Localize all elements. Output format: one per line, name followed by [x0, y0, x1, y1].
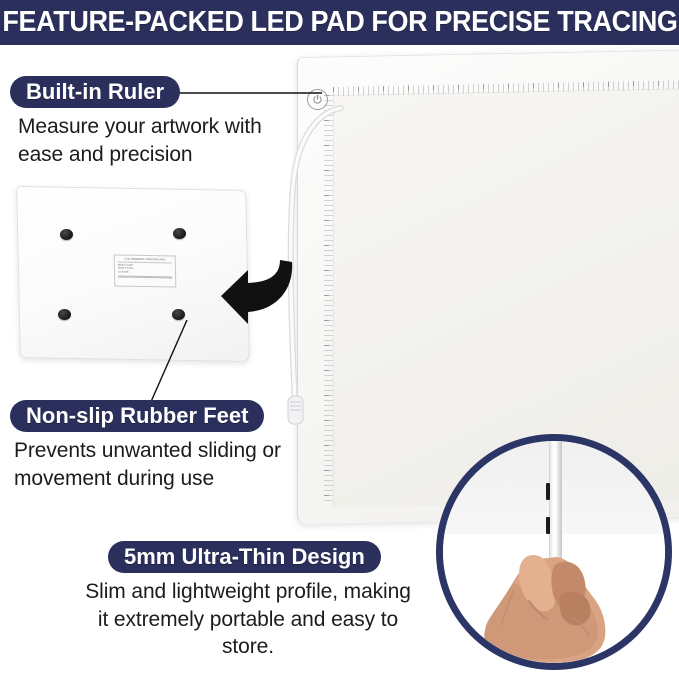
curved-left-arrow-icon: [218, 256, 296, 326]
infographic-canvas: FEATURE-PACKED LED PAD FOR PRECISE TRACI…: [0, 0, 679, 674]
rubber-foot: [172, 309, 185, 320]
callout-text-built-in-ruler: Measure your artwork with ease and preci…: [18, 113, 288, 168]
back-panel-image: LED DRAWING TRACING PAD Model: A4-007 Ma…: [18, 188, 248, 363]
product-label-title: LED DRAWING TRACING PAD: [118, 258, 172, 264]
rubber-foot: [58, 309, 71, 320]
thickness-inset-photo: [443, 441, 665, 663]
ruler-left-major-ticks: [324, 95, 329, 505]
callout-pill-built-in-ruler[interactable]: Built-in Ruler: [10, 76, 180, 108]
product-label: LED DRAWING TRACING PAD Model: A4-007 Ma…: [114, 254, 177, 287]
callout-text-ultra-thin-design: Slim and lightweight profile, making it …: [78, 578, 418, 661]
callout-pill-non-slip-rubber-feet[interactable]: Non-slip Rubber Feet: [10, 400, 264, 432]
product-label-row: CE RoHS: [118, 270, 172, 274]
rubber-foot: [173, 228, 186, 239]
label-divider: [118, 277, 172, 279]
hand-holding-pad: [443, 441, 665, 663]
leader-line-rubber-feet: [150, 320, 210, 410]
callout-text-non-slip-rubber-feet: Prevents unwanted sliding or movement du…: [14, 437, 314, 492]
page-title: FEATURE-PACKED LED PAD FOR PRECISE TRACI…: [2, 6, 677, 39]
header-banner: FEATURE-PACKED LED PAD FOR PRECISE TRACI…: [0, 0, 679, 45]
thickness-inset-circle: [436, 434, 672, 670]
callout-pill-ultra-thin-design[interactable]: 5mm Ultra-Thin Design: [108, 541, 381, 573]
rubber-foot: [60, 229, 73, 240]
